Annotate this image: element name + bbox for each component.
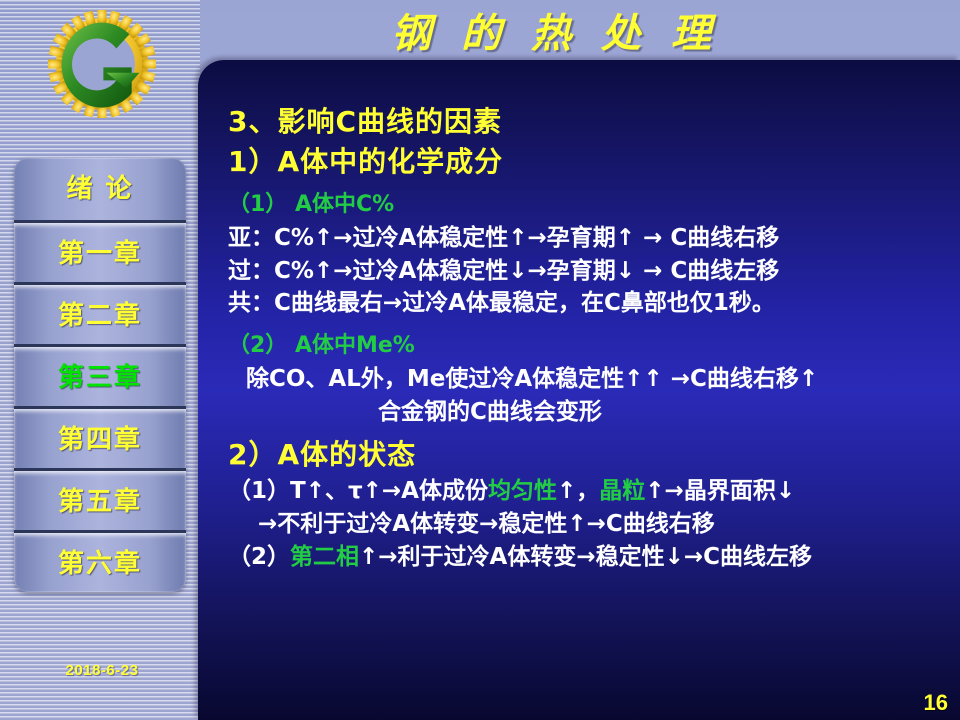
subheading-carbon-content: （1） A体中C% [228,188,954,222]
segment-grain: 晶粒 [599,478,645,504]
body-line-hypoeutectoid: 亚：C%↑→过冷A体稳定性↑→孕育期↑ → C曲线右移 [228,222,954,255]
sidebar-item-label: 第六章 [58,549,142,579]
segment-second-phase-b: ↑→利于过冷A体转变→稳定性↓→C曲线左移 [359,544,812,570]
segment-uniformity: 均匀性 [488,478,557,504]
gear-g-logo-icon [42,6,162,126]
segment-second-phase-a: （2） [228,544,290,570]
subheading-alloying-elements: （2） A体中Me% [228,329,954,363]
sidebar-item-chapter-2[interactable]: 第二章 [14,282,186,344]
body-line-second-phase: （2）第二相↑→利于过冷A体转变→稳定性↓→C曲线左移 [228,541,954,574]
heading-austenite-state: 2）A体的状态 [228,435,954,475]
presentation-slide: 钢 的 热 处 理 3、影响C曲线的因素 1）A体中的化学成分 （1） A体中C… [0,0,960,720]
body-line-hypereutectoid: 过：C%↑→过冷A体稳定性↓→孕育期↓ → C曲线左移 [228,255,954,288]
slide-date: 2018-6-23 [22,662,182,679]
slide-title: 钢 的 热 处 理 [330,8,780,60]
body-line-temp-time: （1）T↑、τ↑→A体成份均匀性↑，晶粒↑→晶界面积↓ [228,475,954,508]
sidebar-item-label: 绪 论 [66,174,133,204]
sidebar-item-intro[interactable]: 绪 论 [14,158,186,220]
segment-temp-time-c: ↑→晶界面积↓ [645,478,795,504]
spacer [228,319,954,329]
segment-temp-time-a: （1）T↑、τ↑→A体成份 [228,478,488,504]
heading-influencing-factors: 3、影响C曲线的因素 [228,102,954,142]
sidebar-item-label: 第一章 [58,239,142,269]
sidebar-item-chapter-3[interactable]: 第三章 [14,344,186,406]
content-body: 3、影响C曲线的因素 1）A体中的化学成分 （1） A体中C% 亚：C%↑→过冷… [228,102,954,574]
sidebar-item-chapter-1[interactable]: 第一章 [14,220,186,282]
body-line-temp-time-cont: →不利于过冷A体转变→稳定性↑→C曲线右移 [228,508,954,541]
body-line-alloy-effect: 除CO、AL外，Me使过冷A体稳定性↑↑ →C曲线右移↑ [228,363,954,396]
sidebar-item-label: 第五章 [58,487,142,517]
heading-chemical-composition: 1）A体中的化学成分 [228,142,954,182]
page-number: 16 [924,690,948,716]
sidebar-item-chapter-5[interactable]: 第五章 [14,468,186,530]
chapter-menu[interactable]: 绪 论 第一章 第二章 第三章 第四章 第五章 第六章 [14,158,186,592]
segment-second-phase-label: 第二相 [290,544,359,570]
sidebar-item-chapter-4[interactable]: 第四章 [14,406,186,468]
content-panel: 3、影响C曲线的因素 1）A体中的化学成分 （1） A体中C% 亚：C%↑→过冷… [198,60,960,720]
body-line-alloy-curve-deform: 合金钢的C曲线会变形 [228,396,954,429]
segment-temp-time-b: ↑， [557,478,599,504]
sidebar-item-label: 第四章 [58,425,142,455]
body-line-eutectoid: 共：C曲线最右→过冷A体最稳定，在C鼻部也仅1秒。 [228,288,954,319]
sidebar-item-label: 第二章 [58,301,142,331]
sidebar-item-label: 第三章 [58,363,142,393]
sidebar-item-chapter-6[interactable]: 第六章 [14,530,186,592]
